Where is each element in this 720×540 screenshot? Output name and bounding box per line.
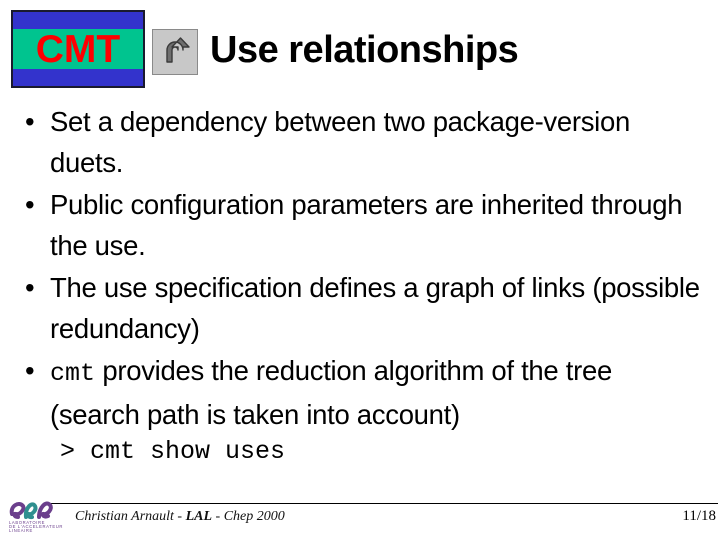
command-example: > cmt show uses <box>60 437 285 467</box>
bullet-marker-icon: • <box>25 267 34 308</box>
list-item: • Public configuration parameters are in… <box>0 184 720 266</box>
list-item-text: The use specification defines a graph of… <box>50 272 700 344</box>
cmt-logo: CMT <box>11 10 145 88</box>
footer-credit-org: LAL <box>186 509 212 524</box>
list-item: •cmt provides the reduction algorithm of… <box>0 350 720 435</box>
footer-credit-author: Christian Arnault - <box>75 509 186 524</box>
slide-header: CMT Use relationships <box>0 0 720 95</box>
footer-divider <box>48 503 718 504</box>
list-item-code-token: cmt <box>50 359 95 388</box>
page-title: Use relationships <box>210 27 518 73</box>
lal-caption-line-3: LINEAIRE <box>9 528 33 533</box>
list-item-text: Set a dependency between two package-ver… <box>50 106 630 178</box>
list-item: • The use specification defines a graph … <box>0 267 720 349</box>
bullet-list: • Set a dependency between two package-v… <box>0 101 720 436</box>
bullet-marker-icon: • <box>25 101 34 142</box>
slide-footer: LABORATOIRE DE L'ACCELERATEUR LINEAIRE C… <box>0 490 720 540</box>
u-turn-arrow-icon <box>152 29 198 75</box>
list-item-text: Public configuration parameters are inhe… <box>50 189 682 261</box>
page-number: 11/18 <box>682 508 716 525</box>
lal-laboratory-logo: LABORATOIRE DE L'ACCELERATEUR LINEAIRE <box>6 495 70 533</box>
list-item-text: provides the reduction algorithm of the … <box>50 355 612 430</box>
cmt-logo-text: CMT <box>13 12 143 86</box>
list-item: • Set a dependency between two package-v… <box>0 101 720 183</box>
footer-credit: Christian Arnault - LAL - Chep 2000 <box>75 509 285 525</box>
footer-credit-event: - Chep 2000 <box>212 509 285 524</box>
bullet-marker-icon: • <box>25 350 34 391</box>
bullet-marker-icon: • <box>25 184 34 225</box>
